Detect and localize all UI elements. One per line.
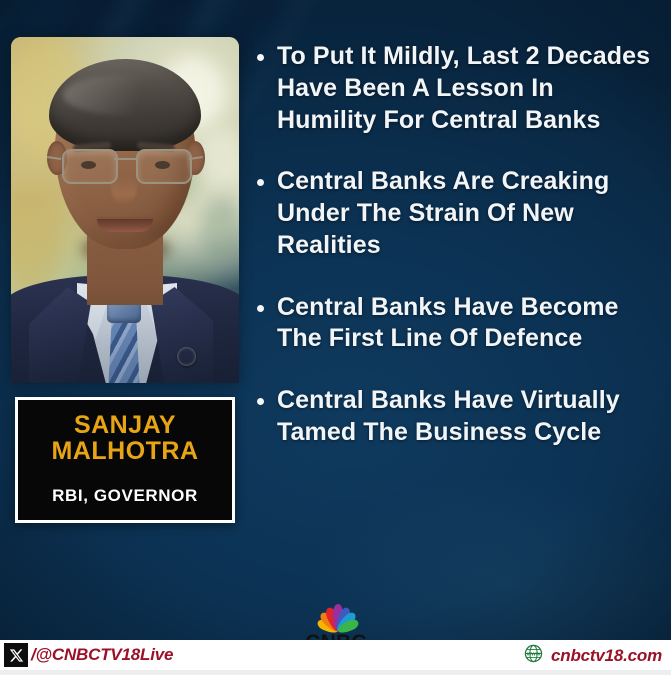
speaker-nameplate: SANJAY MALHOTRA RBI, GOVERNOR — [15, 397, 235, 523]
speaker-title: RBI, GOVERNOR — [52, 486, 198, 506]
headline-bullet-list: To Put It Mildly, Last 2 Decades Have Be… — [257, 41, 659, 449]
footer-edge-strip — [0, 670, 671, 675]
website-link[interactable]: www cnbctv18.com — [524, 644, 662, 668]
bullet-text: Central Banks Have Become The First Line… — [277, 292, 659, 356]
bullet-dot-icon — [257, 398, 264, 405]
bullet-text: To Put It Mildly, Last 2 Decades Have Be… — [277, 41, 659, 136]
bullet-text: Central Banks Are Creaking Under The Str… — [277, 166, 659, 261]
bullet-dot-icon — [257, 54, 264, 61]
x-twitter-icon[interactable] — [4, 643, 28, 667]
news-graphic-card: SANJAY MALHOTRA RBI, GOVERNOR To Put It … — [0, 0, 671, 675]
list-item: Central Banks Have Become The First Line… — [257, 292, 659, 356]
svg-text:www: www — [526, 652, 541, 658]
nbc-peacock-icon — [299, 601, 373, 631]
list-item: Central Banks Have Virtually Tamed The B… — [257, 385, 659, 449]
bullet-dot-icon — [257, 305, 264, 312]
speaker-portrait — [11, 37, 239, 383]
list-item: To Put It Mildly, Last 2 Decades Have Be… — [257, 41, 659, 136]
list-item: Central Banks Are Creaking Under The Str… — [257, 166, 659, 261]
website-text: cnbctv18.com — [551, 646, 662, 666]
globe-www-icon: www — [524, 644, 543, 668]
bullet-dot-icon — [257, 179, 264, 186]
speaker-name-line1: SANJAY — [74, 412, 176, 440]
speaker-name-line2: MALHOTRA — [51, 438, 198, 466]
twitter-handle[interactable]: /@CNBCTV18Live — [31, 645, 173, 665]
bullet-text: Central Banks Have Virtually Tamed The B… — [277, 385, 659, 449]
